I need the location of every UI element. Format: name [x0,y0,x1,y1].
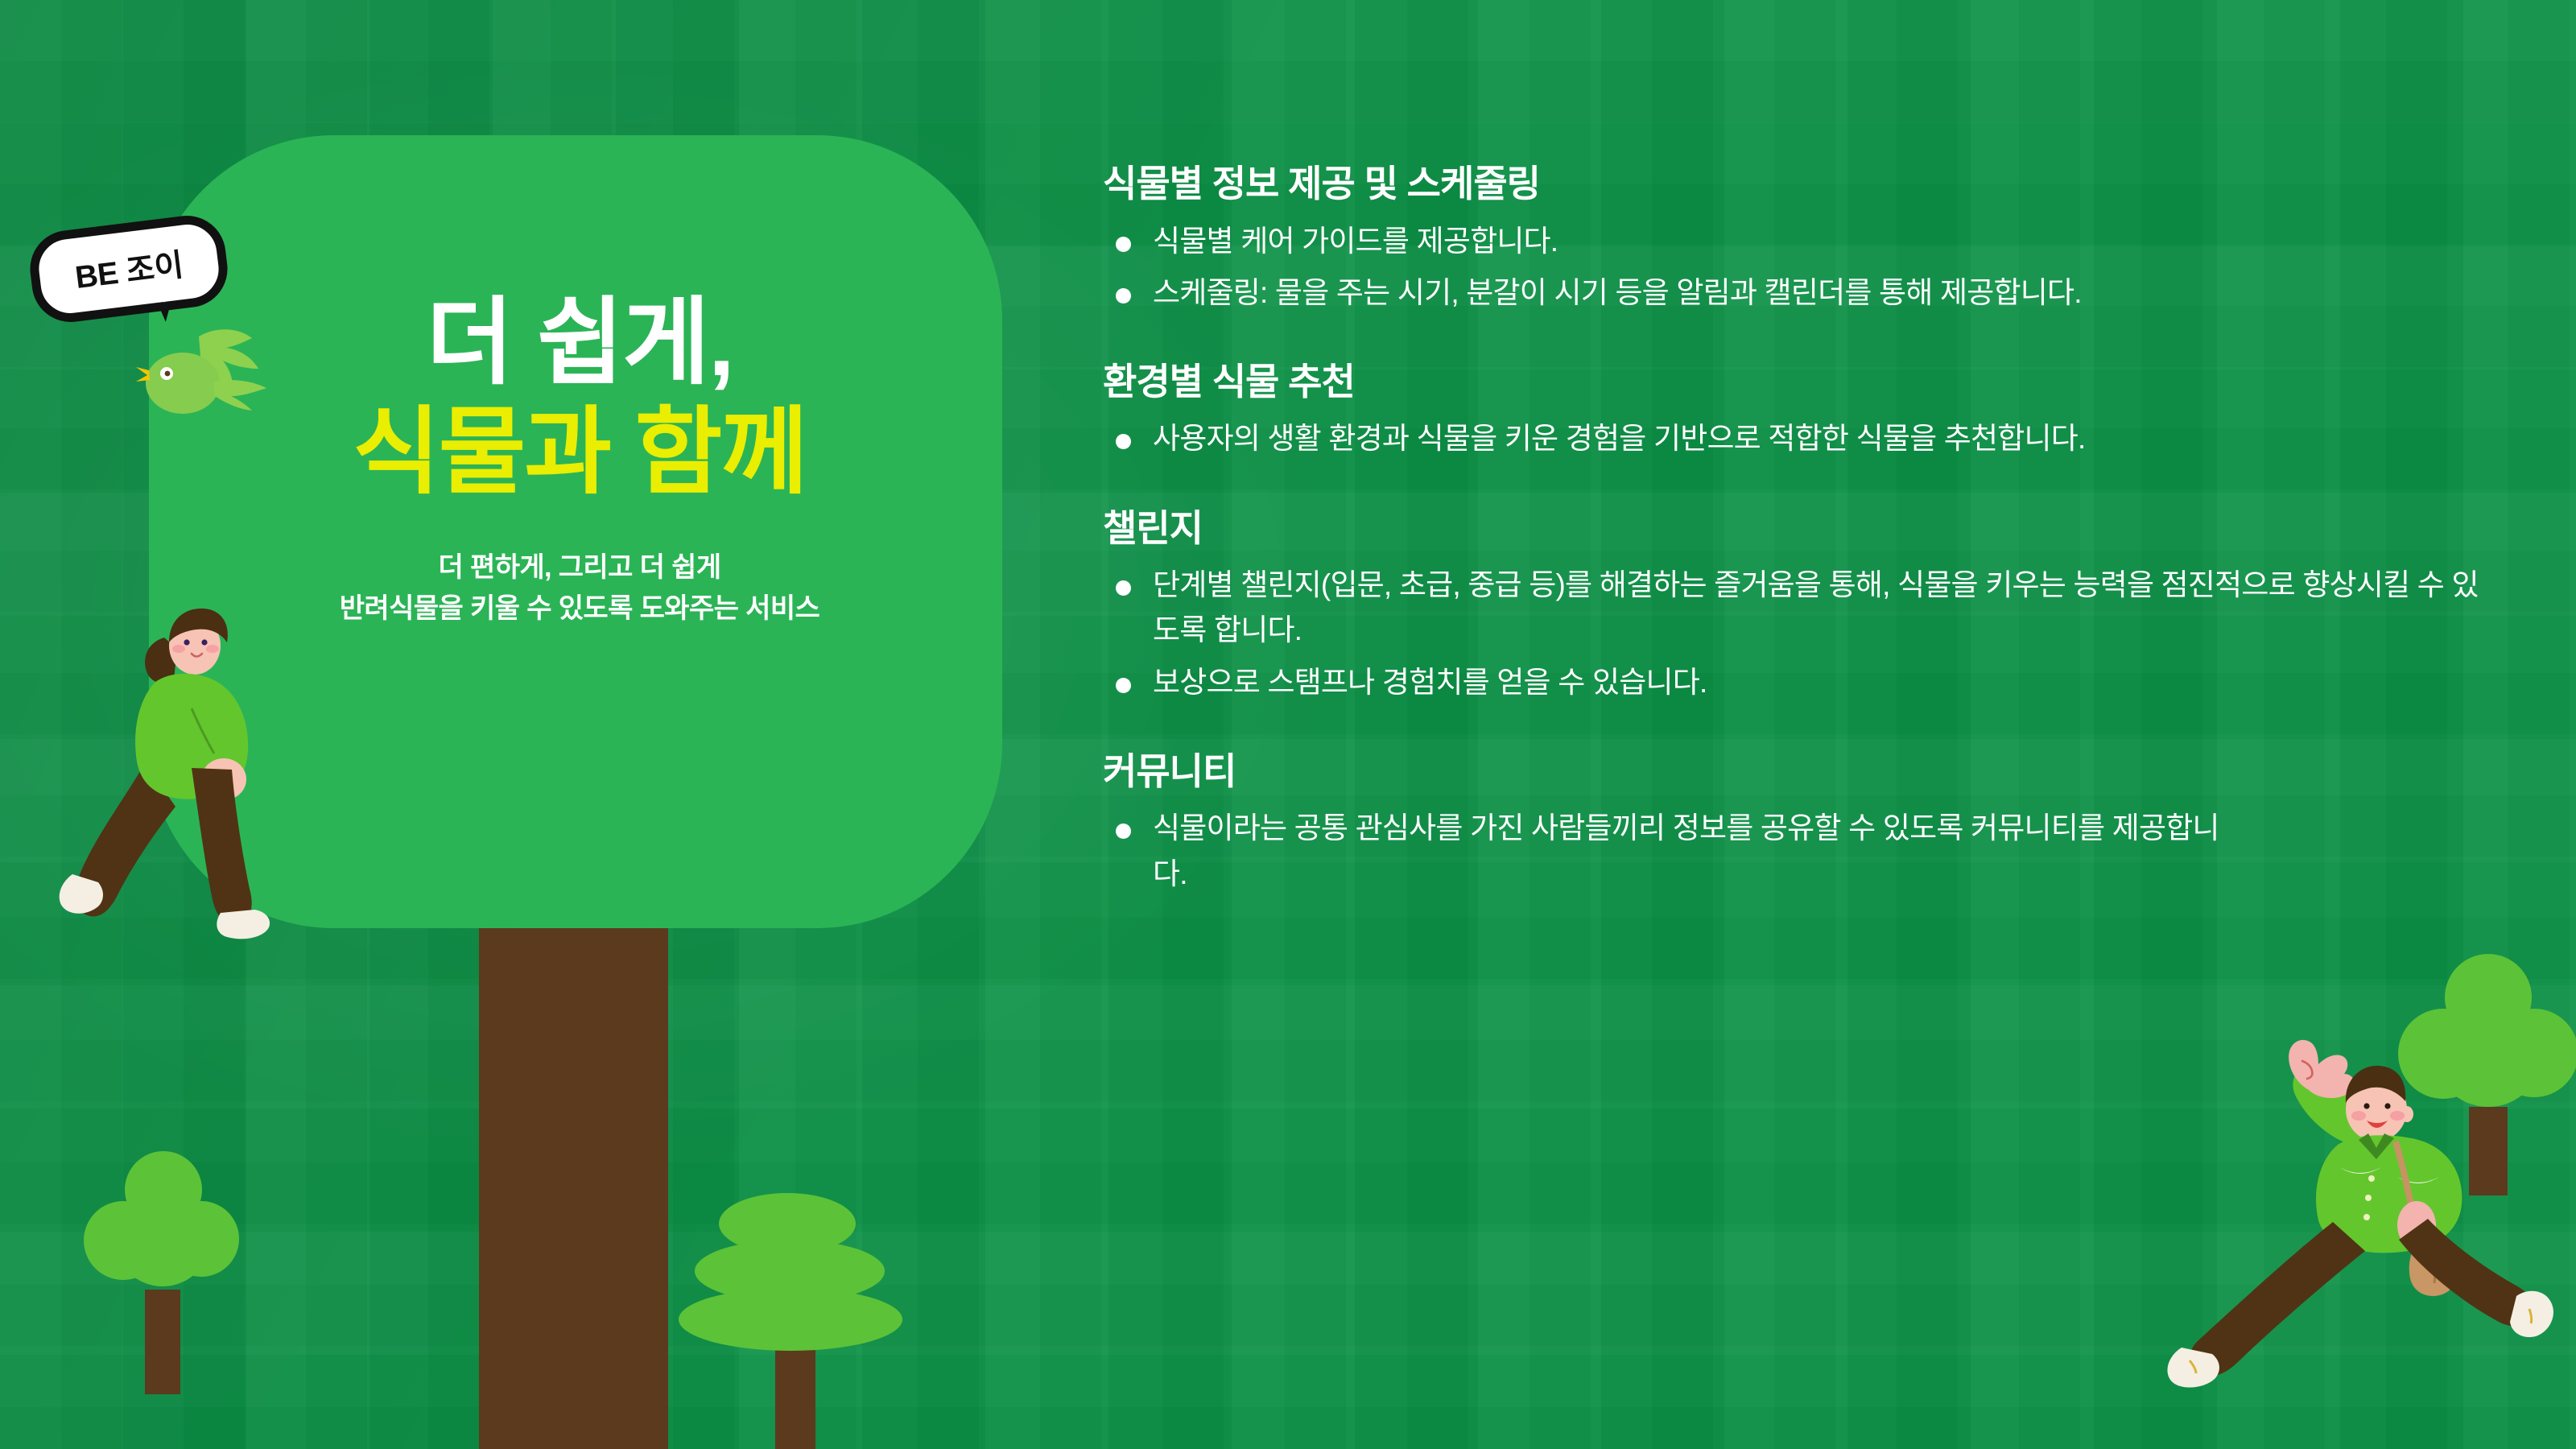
feature-bullet-item: 단계별 챌린지(입문, 초급, 중급 등)를 해결하는 즐거움을 통해, 식물을… [1103,563,2487,653]
hero-subtitle-line-2: 반려식물을 키울 수 있도록 도와주는 서비스 [242,588,918,630]
feature-bullet-text: 단계별 챌린지(입문, 초급, 중급 등)를 해결하는 즐거움을 통해, 식물을… [1153,568,2479,646]
feature-bullet-text: 스케줄링: 물을 주는 시기, 분갈이 시기 등을 알림과 캘린더를 통해 제공… [1153,276,2082,309]
feature-bullet-item: 스케줄링: 물을 주는 시기, 분갈이 시기 등을 알림과 캘린더를 통해 제공… [1103,270,2487,316]
feature-bullet-item: 보상으로 스탬프나 경험치를 얻을 수 있습니다. [1103,660,2487,705]
feature-bullet-list: 식물이라는 공통 관심사를 가진 사람들끼리 정보를 공유할 수 있도록 커뮤니… [1103,806,2487,896]
feature-bullet-text: 보상으로 스탬프나 경험치를 얻을 수 있습니다. [1153,666,1707,699]
bullet-dot-icon [1116,237,1131,252]
bullet-dot-icon [1116,580,1131,596]
feature-heading: 환경별 식물 추천 [1103,359,2487,406]
feature-bullet-list: 단계별 챌린지(입문, 초급, 중급 등)를 해결하는 즐거움을 통해, 식물을… [1103,563,2487,705]
feature-bullet-item: 식물이라는 공통 관심사를 가진 사람들끼리 정보를 공유할 수 있도록 커뮤니… [1103,806,2223,896]
hero-title-line-2: 식물과 함께 [242,399,918,506]
big-tree-trunk [479,910,668,1449]
hero-title-line-1: 더 쉽게, [242,290,918,396]
feature-section-info-scheduling: 식물별 정보 제공 및 스케줄링 식물별 케어 가이드를 제공합니다. 스케줄링… [1103,161,2487,316]
feature-heading: 커뮤니티 [1103,749,2487,795]
bullet-dot-icon [1116,824,1131,839]
slide-canvas: BE 조이 더 쉽게, 식물과 함께 더 편하게, 그리고 더 쉽게 반려식물을… [0,0,2576,1449]
speech-bubble-tail-fill [154,275,173,303]
small-tree-center-tiered [680,1175,914,1449]
feature-section-community: 커뮤니티 식물이라는 공통 관심사를 가진 사람들끼리 정보를 공유할 수 있도… [1103,749,2487,897]
feature-bullet-text: 사용자의 생활 환경과 식물을 키운 경험을 기반으로 적합한 식물을 추천합니… [1153,422,2085,455]
feature-bullet-text: 식물이라는 공통 관심사를 가진 사람들끼리 정보를 공유할 수 있도록 커뮤니… [1153,811,2219,890]
feature-bullet-list: 사용자의 생활 환경과 식물을 키운 경험을 기반으로 적합한 식물을 추천합니… [1103,416,2487,461]
walking-woman-character [48,596,322,958]
hero-title-block: 더 쉽게, 식물과 함께 더 편하게, 그리고 더 쉽게 반려식물을 키울 수 … [242,290,918,630]
feature-section-challenge: 챌린지 단계별 챌린지(입문, 초급, 중급 등)를 해결하는 즐거움을 통해,… [1103,506,2487,705]
bullet-dot-icon [1116,678,1131,693]
small-tree-left [80,1151,242,1417]
feature-bullet-list: 식물별 케어 가이드를 제공합니다. 스케줄링: 물을 주는 시기, 분갈이 시… [1103,219,2487,316]
feature-heading: 챌린지 [1103,506,2487,552]
hero-subtitle: 더 편하게, 그리고 더 쉽게 반려식물을 키울 수 있도록 도와주는 서비스 [242,547,918,630]
hero-subtitle-line-1: 더 편하게, 그리고 더 쉽게 [242,547,918,588]
feature-bullet-item: 식물별 케어 가이드를 제공합니다. [1103,219,2487,264]
feature-list-panel: 식물별 정보 제공 및 스케줄링 식물별 케어 가이드를 제공합니다. 스케줄링… [1103,161,2487,897]
bullet-dot-icon [1116,288,1131,303]
feature-bullet-text: 식물별 케어 가이드를 제공합니다. [1153,225,1558,258]
feature-heading: 식물별 정보 제공 및 스케줄링 [1103,161,2487,208]
feature-bullet-item: 사용자의 생활 환경과 식물을 키운 경험을 기반으로 적합한 식물을 추천합니… [1103,416,2487,461]
small-tree-right [2395,954,2576,1195]
feature-section-recommendation: 환경별 식물 추천 사용자의 생활 환경과 식물을 키운 경험을 기반으로 적합… [1103,359,2487,462]
bullet-dot-icon [1116,434,1131,449]
